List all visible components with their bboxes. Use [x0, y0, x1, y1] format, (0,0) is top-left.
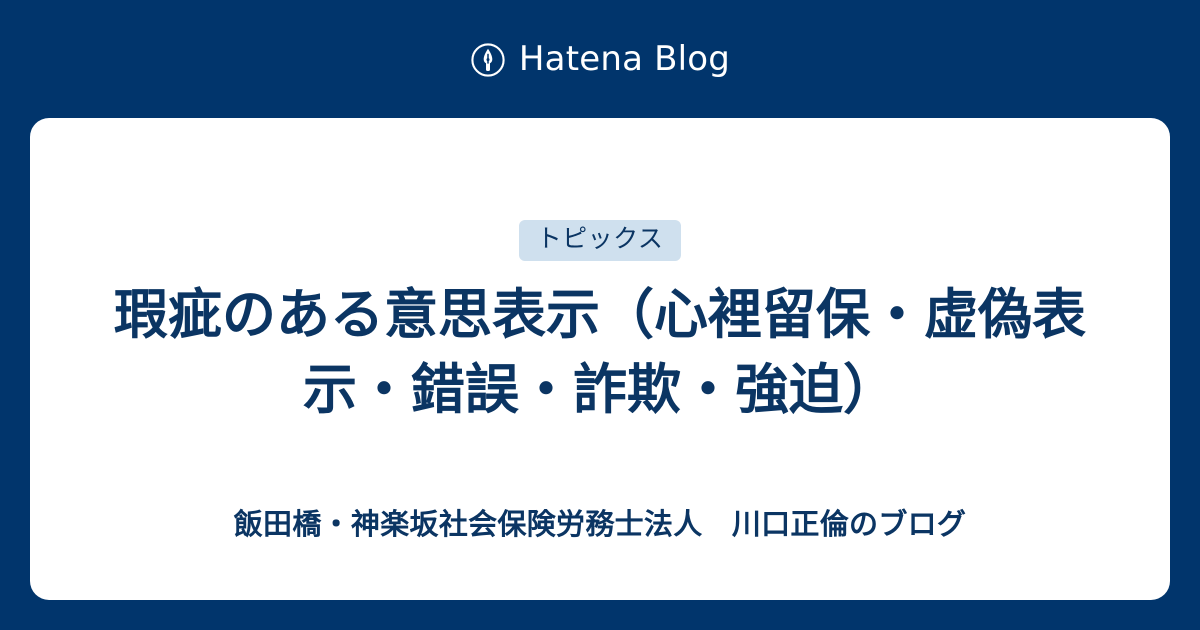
hatena-pen-nib-icon	[470, 42, 506, 78]
og-image-card: Hatena Blog トピックス 瑕疵のある意思表示（心裡留保・ 虚偽表示・錯…	[0, 0, 1200, 630]
category-badge[interactable]: トピックス	[519, 220, 682, 261]
content-card: トピックス 瑕疵のある意思表示（心裡留保・ 虚偽表示・錯誤・詐欺・強迫） 飯田橋…	[30, 118, 1170, 600]
entry-title-line-1: 瑕疵のある意思表示（心裡留保・	[114, 285, 924, 345]
hatena-blog-brand: Hatena Blog	[0, 0, 1200, 118]
brand-name-label: Hatena Blog	[519, 41, 730, 77]
page-title: 瑕疵のある意思表示（心裡留保・ 虚偽表示・錯誤・詐欺・強迫）	[95, 278, 1105, 428]
blog-name-label: 飯田橋・神楽坂社会保険労務士法人 川口正倫のブログ	[30, 505, 1170, 545]
badge-row: トピックス	[30, 220, 1170, 261]
